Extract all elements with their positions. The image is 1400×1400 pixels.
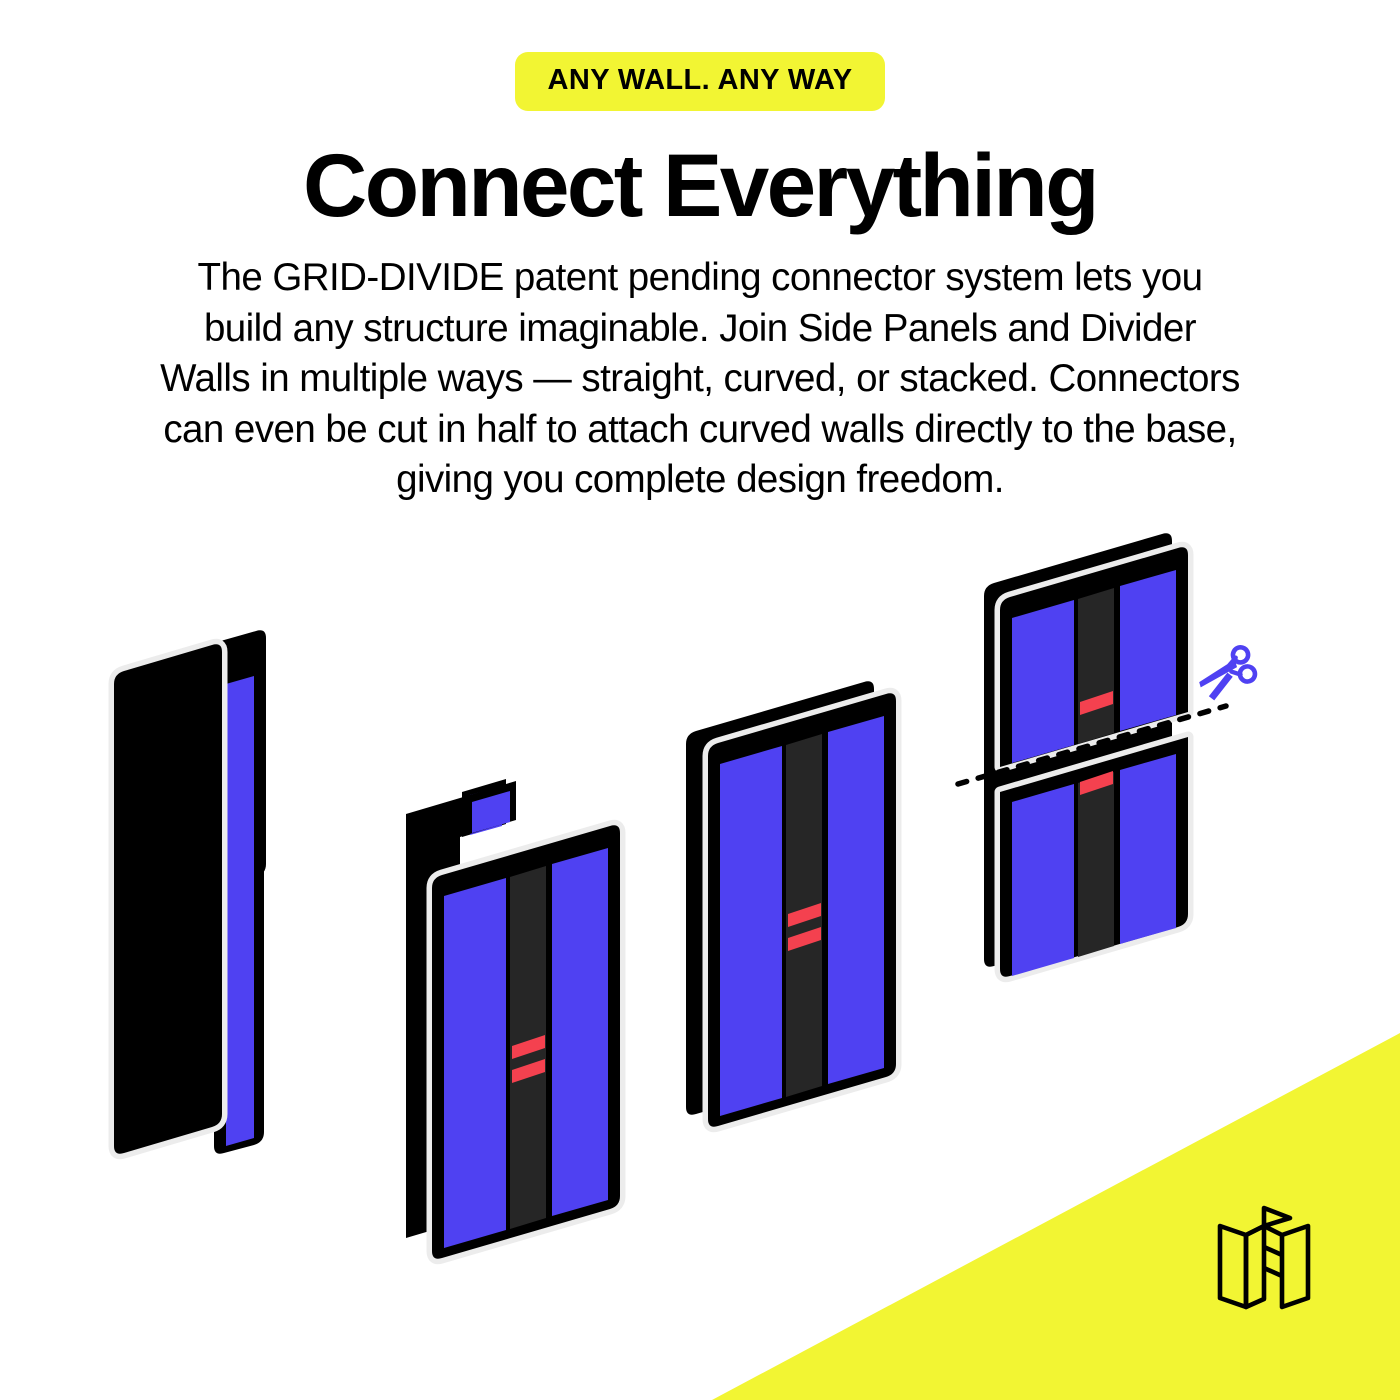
illustration-divider-wall-straight: [676, 638, 926, 1183]
eyebrow-badge: ANY WALL. ANY WAY: [515, 52, 886, 111]
eyebrow-row: ANY WALL. ANY WAY: [0, 52, 1400, 111]
grid-divide-logo-icon: [1216, 1202, 1312, 1316]
illustration-divider-wall-joined: [398, 778, 648, 1323]
scissors-icon: [1193, 645, 1259, 703]
illustration-connector-cut: [944, 486, 1274, 1066]
header-text-block: ANY WALL. ANY WAY Connect Everything The…: [0, 0, 1400, 505]
front-divider-wall: [432, 825, 620, 1258]
front-side-panel: [114, 644, 222, 1153]
intro-paragraph: The GRID-DIVIDE patent pending connector…: [155, 253, 1245, 505]
page-title: Connect Everything: [0, 138, 1400, 232]
poster-canvas: ANY WALL. ANY WAY Connect Everything The…: [0, 0, 1400, 1400]
front-divider-wall: [708, 693, 896, 1126]
illustration-side-panel-pair: [104, 622, 384, 1182]
